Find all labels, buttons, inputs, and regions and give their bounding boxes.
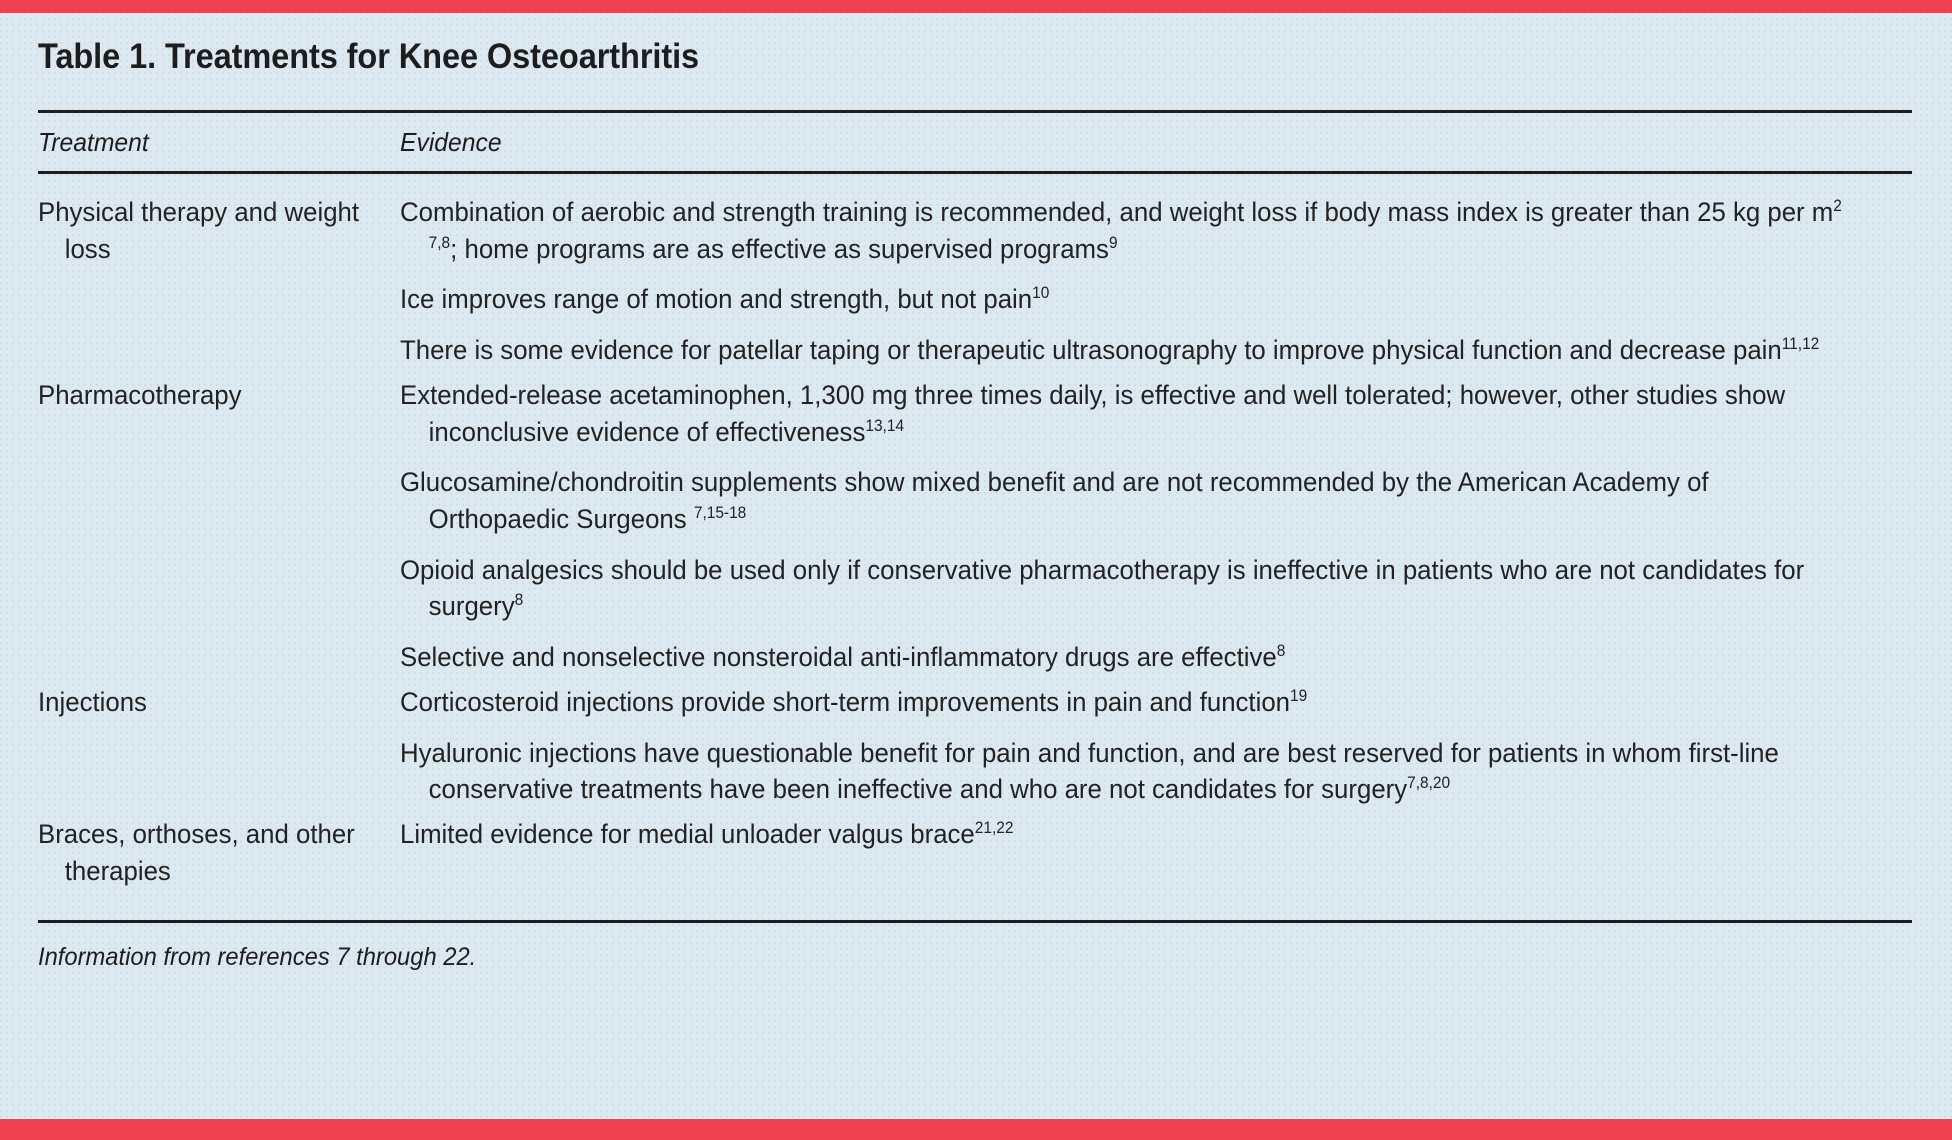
- evidence-paragraph: Corticosteroid injections provide short-…: [400, 684, 1846, 721]
- evidence-paragraph: Hyaluronic injections have questionable …: [400, 735, 1846, 808]
- table-body: Physical therapy and weight lossCombinat…: [38, 174, 1914, 920]
- table-content: Table 1. Treatments for Knee Osteoarthri…: [0, 0, 1952, 972]
- reference-superscript: 11,12: [1782, 335, 1820, 353]
- table-row: PharmacotherapyExtended-release acetamin…: [38, 377, 1914, 684]
- evidence-paragraph: Limited evidence for medial unloader val…: [400, 816, 1846, 853]
- evidence-paragraph: Glucosamine/chondroitin supplements show…: [400, 464, 1846, 537]
- reference-superscript: 8: [1277, 642, 1286, 660]
- reference-superscript: 7,15-18: [694, 504, 746, 522]
- reference-superscript: 19: [1290, 687, 1307, 705]
- cell-evidence: Combination of aerobic and strength trai…: [400, 194, 1846, 369]
- table-row: Physical therapy and weight lossCombinat…: [38, 194, 1914, 377]
- table-page: Table 1. Treatments for Knee Osteoarthri…: [0, 0, 1952, 1140]
- column-header-evidence: Evidence: [400, 127, 1838, 158]
- evidence-paragraph: Extended-release acetaminophen, 1,300 mg…: [400, 377, 1846, 450]
- cell-treatment: Pharmacotherapy: [38, 377, 384, 414]
- reference-superscript: 7,8: [429, 234, 451, 252]
- treatment-label: Injections: [38, 684, 384, 721]
- evidence-paragraph: Combination of aerobic and strength trai…: [400, 194, 1846, 267]
- cell-treatment: Physical therapy and weight loss: [38, 194, 384, 267]
- table-header-row: Treatment Evidence: [38, 113, 1914, 171]
- evidence-paragraph: There is some evidence for patellar tapi…: [400, 332, 1846, 369]
- table-row: InjectionsCorticosteroid injections prov…: [38, 684, 1914, 816]
- cell-evidence: Extended-release acetaminophen, 1,300 mg…: [400, 377, 1846, 676]
- reference-superscript: 10: [1032, 284, 1049, 302]
- table-footnote: Information from references 7 through 22…: [38, 923, 1820, 972]
- unit-superscript: 2: [1833, 197, 1842, 215]
- reference-superscript: 8: [515, 591, 524, 609]
- cell-treatment: Braces, orthoses, and other therapies: [38, 816, 384, 889]
- top-red-bar: [0, 0, 1952, 13]
- reference-superscript: 21,22: [975, 819, 1014, 837]
- reference-superscript: 9: [1109, 234, 1118, 252]
- treatment-label: Physical therapy and weight loss: [38, 194, 384, 267]
- cell-evidence: Corticosteroid injections provide short-…: [400, 684, 1846, 808]
- column-header-treatment: Treatment: [38, 127, 382, 158]
- treatment-label: Pharmacotherapy: [38, 377, 384, 414]
- bottom-red-bar: [0, 1119, 1952, 1140]
- evidence-paragraph: Ice improves range of motion and strengt…: [400, 281, 1846, 318]
- cell-treatment: Injections: [38, 684, 384, 721]
- reference-superscript: 13,14: [865, 417, 904, 435]
- treatment-label: Braces, orthoses, and other therapies: [38, 816, 384, 889]
- evidence-paragraph: Selective and nonselective nonsteroidal …: [400, 639, 1846, 676]
- table-row: Braces, orthoses, and other therapiesLim…: [38, 816, 1914, 897]
- cell-evidence: Limited evidence for medial unloader val…: [400, 816, 1846, 853]
- reference-superscript: 7,8,20: [1407, 774, 1450, 792]
- evidence-paragraph: Opioid analgesics should be used only if…: [400, 552, 1846, 625]
